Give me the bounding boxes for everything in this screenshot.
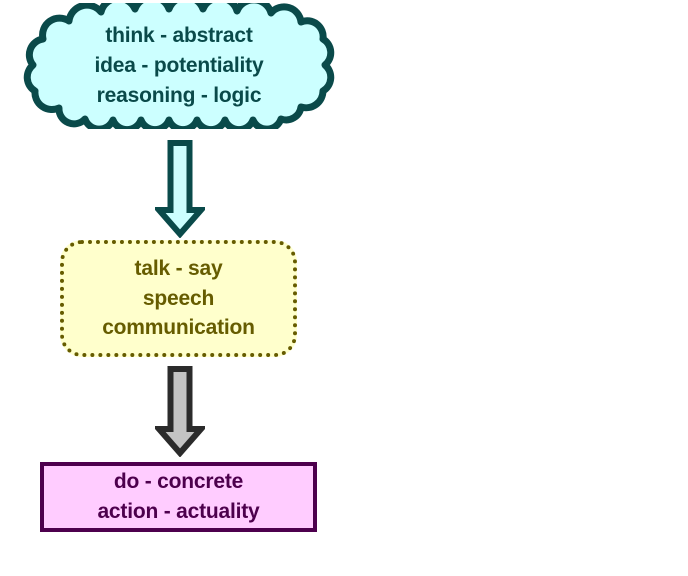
node-think[interactable]: think - abstract idea - potentiality rea… [13, 3, 345, 129]
node-do[interactable]: do - concrete action - actuality [40, 462, 317, 532]
node-think-label: think - abstract idea - potentiality rea… [13, 3, 345, 129]
arrow-think-to-talk [155, 140, 205, 238]
node-talk[interactable]: talk - say speech communication [60, 240, 297, 357]
node-do-label: do - concrete action - actuality [97, 467, 259, 527]
arrow-talk-to-do [155, 365, 205, 457]
diagram-canvas: think - abstract idea - potentiality rea… [0, 0, 688, 576]
node-talk-label: talk - say speech communication [102, 254, 255, 343]
